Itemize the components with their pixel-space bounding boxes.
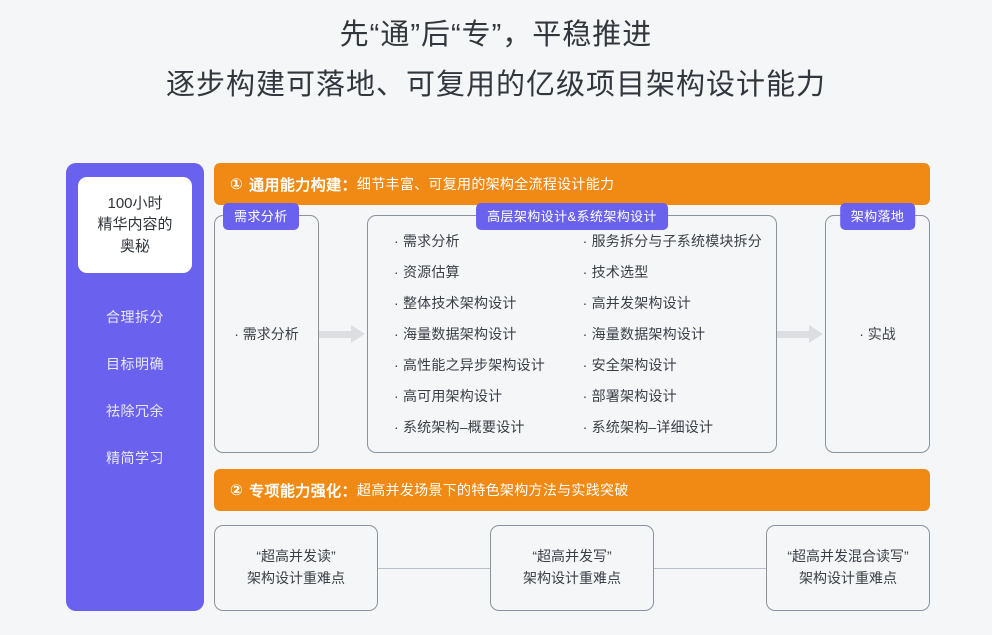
list-item: · 安全架构设计: [583, 355, 762, 375]
bottom-box-ultra-high-concurrency-write: “超高并发写” 架构设计重难点: [490, 525, 654, 611]
page-title-line-1: 先“通”后“专”，平稳推进: [0, 14, 992, 56]
sidebar-item-lean-learning: 精简学习: [106, 448, 164, 468]
sidebar-card-line-3: 奥秘: [120, 236, 150, 257]
sidebar-panel: 100小时 精华内容的 奥秘 合理拆分 目标明确 祛除冗余 精简学习: [66, 163, 204, 611]
section-2-heading: 专项能力强化：: [249, 480, 357, 501]
list-item: · 系统架构–概要设计: [394, 417, 553, 437]
list-item: · 海量数据架构设计: [394, 324, 553, 344]
sidebar-highlight-card: 100小时 精华内容的 奥秘: [78, 177, 192, 273]
list-item: · 资源估算: [394, 262, 553, 282]
flow-stage2-columns: · 需求分析 · 资源估算 · 整体技术架构设计 · 海量数据架构设计 · 高性…: [368, 216, 776, 452]
sidebar-card-line-1: 100小时: [107, 193, 162, 214]
flow-tag-requirement-analysis: 需求分析: [223, 203, 299, 230]
flow-stage2-right-column: · 服务拆分与子系统模块拆分 · 技术选型 · 高并发架构设计 · 海量数据架构…: [583, 231, 762, 437]
content-column: ① 通用能力构建： 细节丰富、可复用的架构全流程设计能力 需求分析 · 需求分析…: [214, 163, 930, 611]
section-2-marker: ②: [230, 481, 243, 499]
page-title: 先“通”后“专”，平稳推进 逐步构建可落地、可复用的亿级项目架构设计能力: [0, 14, 992, 106]
bottom-box-2-line-1: “超高并发写”: [532, 546, 611, 568]
flow-stage2-left-column: · 需求分析 · 资源估算 · 整体技术架构设计 · 海量数据架构设计 · 高性…: [394, 231, 553, 437]
bottom-box-3-line-2: 架构设计重难点: [799, 568, 897, 590]
flow-tag-high-level-system-design: 高层架构设计&系统架构设计: [476, 203, 668, 230]
list-item: · 高可用架构设计: [394, 386, 553, 406]
diagram-board: 100小时 精华内容的 奥秘 合理拆分 目标明确 祛除冗余 精简学习 ① 通用能…: [66, 163, 930, 611]
section-bar-general-capability: ① 通用能力构建： 细节丰富、可复用的架构全流程设计能力: [214, 163, 930, 205]
sidebar-card-line-2: 精华内容的: [97, 214, 172, 235]
flow-stage-architecture-implementation: 架构落地 · 实战: [825, 215, 930, 453]
list-item: · 服务拆分与子系统模块拆分: [583, 231, 762, 251]
architecture-flow-row: 需求分析 · 需求分析 高层架构设计&系统架构设计 · 需求分析 · 资源估算 …: [214, 215, 930, 453]
bottom-box-2-line-2: 架构设计重难点: [523, 568, 621, 590]
flow-stage1-item-requirement-analysis: · 需求分析: [215, 216, 318, 452]
bottom-box-ultra-high-concurrency-mixed: “超高并发混合读写” 架构设计重难点: [766, 525, 930, 611]
list-item: · 高并发架构设计: [583, 293, 762, 313]
connector-line: [654, 568, 766, 569]
page-title-line-2: 逐步构建可落地、可复用的亿级项目架构设计能力: [0, 64, 992, 106]
section-1-marker: ①: [230, 175, 243, 193]
list-item: · 技术选型: [583, 262, 762, 282]
arrow-right-icon: [777, 325, 825, 343]
list-item: · 部署架构设计: [583, 386, 762, 406]
flow-stage3-item-practice: · 实战: [826, 216, 929, 452]
list-item: · 系统架构–详细设计: [583, 417, 762, 437]
sidebar-item-clear-goal: 目标明确: [106, 354, 164, 374]
list-item: · 需求分析: [394, 231, 553, 251]
section-bar-specialized-capability: ② 专项能力强化： 超高并发场景下的特色架构方法与实践突破: [214, 469, 930, 511]
sidebar-feature-list: 合理拆分 目标明确 祛除冗余 精简学习: [78, 307, 192, 468]
flow-stage-high-level-and-system-design: 高层架构设计&系统架构设计 · 需求分析 · 资源估算 · 整体技术架构设计 ·…: [367, 215, 777, 453]
section-2-subheading: 超高并发场景下的特色架构方法与实践突破: [357, 480, 629, 500]
list-item: · 整体技术架构设计: [394, 293, 553, 313]
bottom-box-ultra-high-concurrency-read: “超高并发读” 架构设计重难点: [214, 525, 378, 611]
flow-stage-requirement-analysis: 需求分析 · 需求分析: [214, 215, 319, 453]
bottom-box-1-line-2: 架构设计重难点: [247, 568, 345, 590]
bottom-box-3-line-1: “超高并发混合读写”: [787, 546, 908, 568]
sidebar-item-remove-redundancy: 祛除冗余: [106, 401, 164, 421]
flow-tag-architecture-implementation: 架构落地: [840, 203, 916, 230]
section-1-heading: 通用能力构建：: [249, 174, 357, 195]
specialized-topics-row: “超高并发读” 架构设计重难点 “超高并发写” 架构设计重难点 “超高并发混合读…: [214, 525, 930, 611]
arrow-right-icon: [319, 325, 367, 343]
bottom-box-1-line-1: “超高并发读”: [256, 546, 335, 568]
list-item: · 海量数据架构设计: [583, 324, 762, 344]
sidebar-item-reasonable-split: 合理拆分: [106, 307, 164, 327]
section-1-subheading: 细节丰富、可复用的架构全流程设计能力: [357, 174, 614, 194]
connector-line: [378, 568, 490, 569]
list-item: · 高性能之异步架构设计: [394, 355, 553, 375]
